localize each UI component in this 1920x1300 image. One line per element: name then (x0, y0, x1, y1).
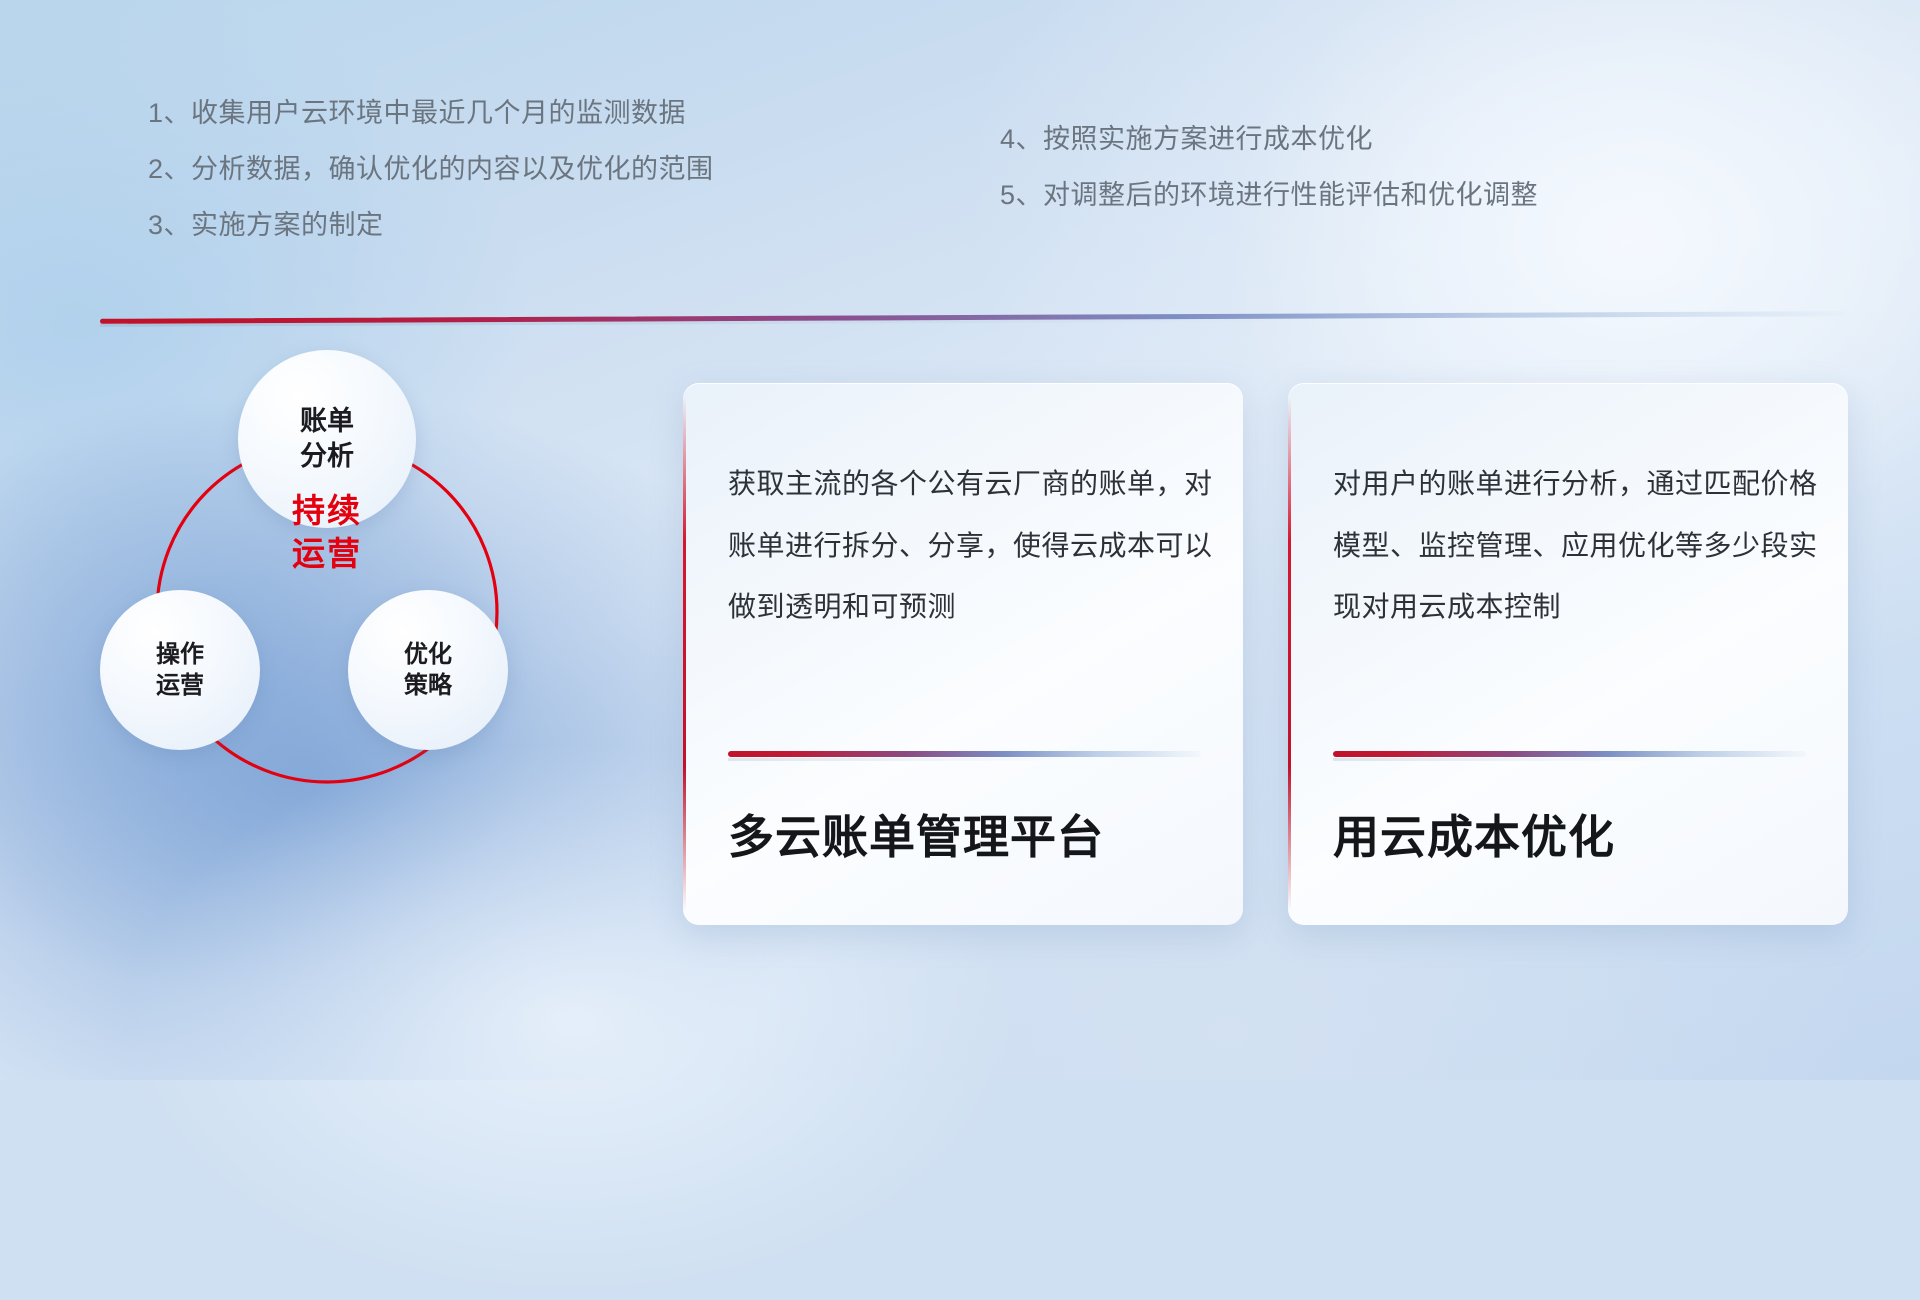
continuous-operations-diagram: 账单 分析 操作 运营 优化 策略 持续 运营 (100, 350, 640, 920)
card-cloud-cost-optimization[interactable]: 对用户的账单进行分析，通过匹配价格模型、监控管理、应用优化等多少段实现对用云成本… (1288, 383, 1848, 925)
bubble-optimization-strategy[interactable]: 优化 策略 (348, 590, 508, 750)
bubble-operations[interactable]: 操作 运营 (100, 590, 260, 750)
bubble-operations-line2: 运营 (156, 670, 204, 701)
card-2-title: 用云成本优化 (1333, 801, 1818, 867)
bubble-optimization-line1: 优化 (404, 639, 452, 670)
step-item-2: 2、分析数据，确认优化的内容以及优化的范围 (148, 156, 714, 183)
step-item-5: 5、对调整后的环境进行性能评估和优化调整 (1000, 182, 1538, 209)
card-1-title: 多云账单管理平台 (728, 801, 1213, 867)
step-item-4: 4、按照实施方案进行成本优化 (1000, 126, 1538, 153)
bubble-bill-analysis-line2: 分析 (300, 439, 354, 474)
steps-right-column: 4、按照实施方案进行成本优化 5、对调整后的环境进行性能评估和优化调整 (1000, 126, 1538, 238)
step-item-3: 3、实施方案的制定 (148, 212, 714, 239)
bubble-bill-analysis-line1: 账单 (300, 404, 354, 439)
bubble-optimization-line2: 策略 (404, 670, 452, 701)
card-1-rule-shadow (728, 758, 1201, 761)
card-2-rule-shadow (1333, 758, 1806, 761)
steps-left-column: 1、收集用户云环境中最近几个月的监测数据 2、分析数据，确认优化的内容以及优化的… (148, 100, 714, 268)
step-item-1: 1、收集用户云环境中最近几个月的监测数据 (148, 100, 714, 127)
center-label-line1: 持续 (222, 490, 432, 533)
card-2-body-text: 对用户的账单进行分析，通过匹配价格模型、监控管理、应用优化等多少段实现对用云成本… (1333, 453, 1818, 638)
card-2-rule (1333, 751, 1806, 757)
card-1-rule (728, 751, 1201, 757)
diagram-center-label: 持续 运营 (222, 490, 432, 576)
card-1-body-text: 获取主流的各个公有云厂商的账单，对账单进行拆分、分享，使得云成本可以做到透明和可… (728, 453, 1213, 638)
center-label-line2: 运营 (222, 533, 432, 576)
card-multi-cloud-billing-platform[interactable]: 获取主流的各个公有云厂商的账单，对账单进行拆分、分享，使得云成本可以做到透明和可… (683, 383, 1243, 925)
bubble-operations-line1: 操作 (156, 639, 204, 670)
